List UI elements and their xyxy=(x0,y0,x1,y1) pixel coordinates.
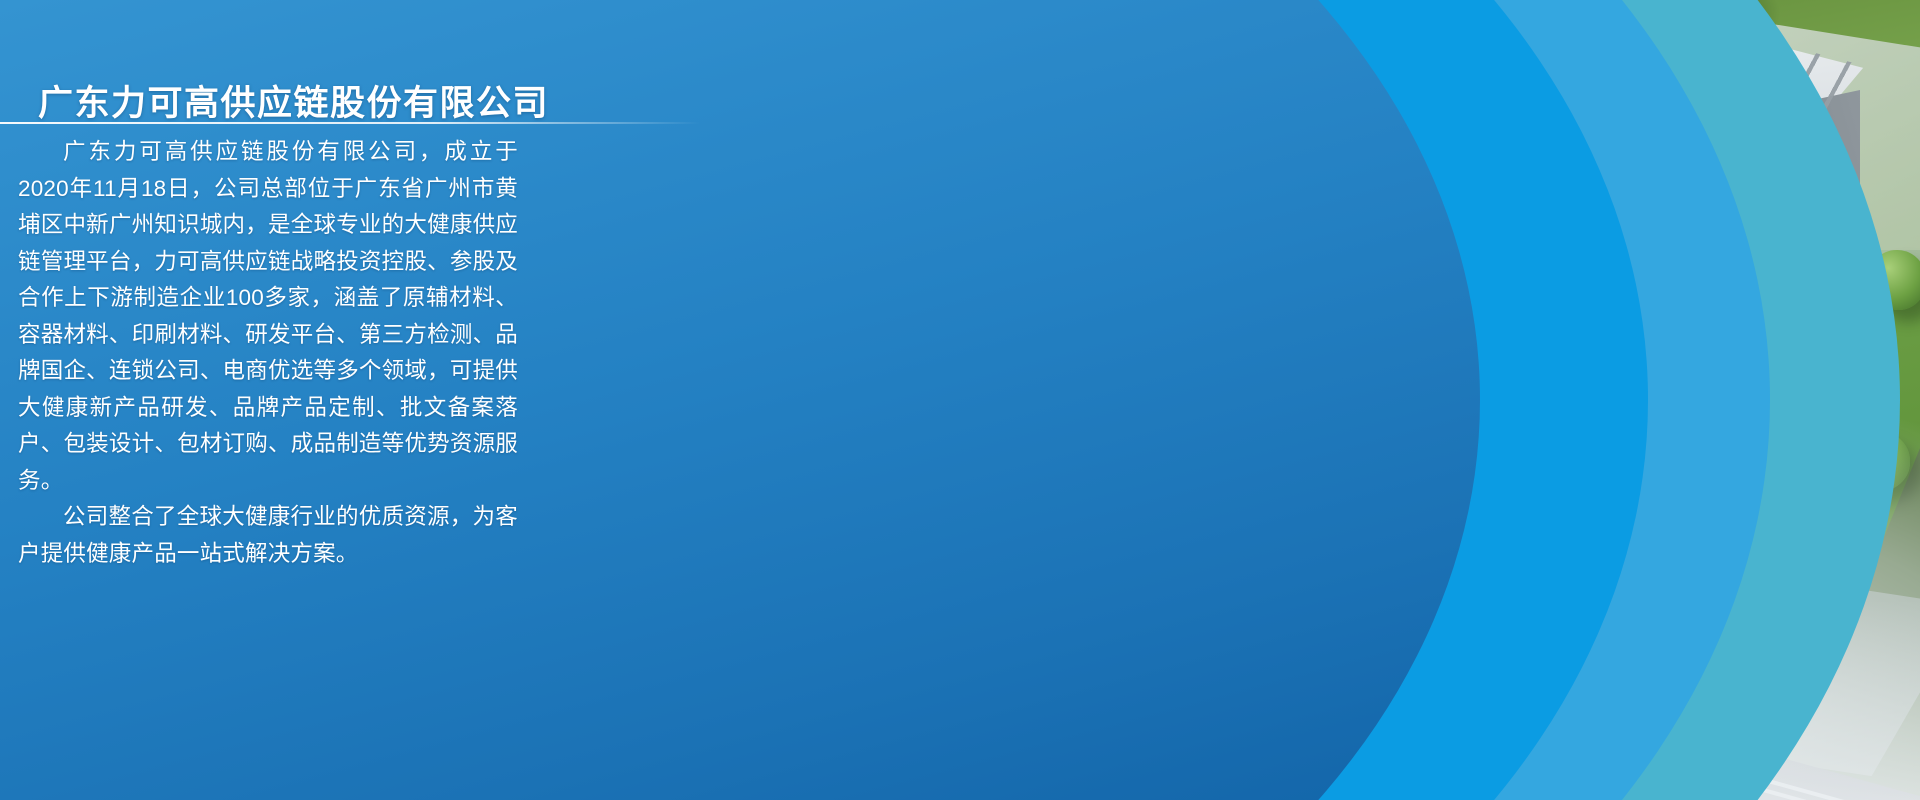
title-divider xyxy=(0,122,700,124)
description-paragraph-2: 公司整合了全球大健康行业的优质资源，为客户提供健康产品一站式解决方案。 xyxy=(18,499,518,572)
text-content-area: 广东力可高供应链股份有限公司 广东力可高供应链股份有限公司，成立于2020年11… xyxy=(0,0,640,800)
company-description: 广东力可高供应链股份有限公司，成立于2020年11月18日，公司总部位于广东省广… xyxy=(18,134,518,572)
description-paragraph-1: 广东力可高供应链股份有限公司，成立于2020年11月18日，公司总部位于广东省广… xyxy=(18,134,518,499)
page-title: 广东力可高供应链股份有限公司 xyxy=(38,75,549,126)
company-profile-banner: 广东力可高供应链股份有限公司 广东力可高供应链股份有限公司，成立于2020年11… xyxy=(0,0,1920,800)
